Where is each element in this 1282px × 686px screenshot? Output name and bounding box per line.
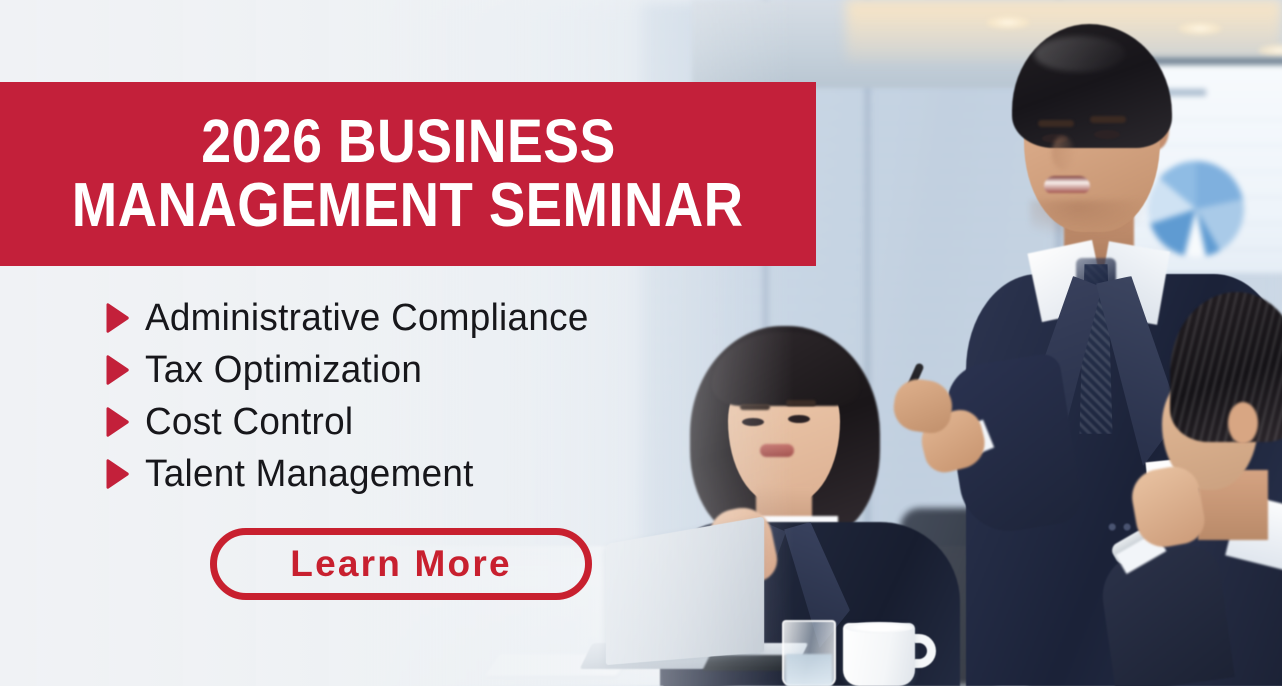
title-banner: 2026 BUSINESS MANAGEMENT SEMINAR <box>0 82 816 266</box>
feature-list: Administrative Compliance Tax Optimizati… <box>104 292 784 500</box>
banner-content: 2026 BUSINESS MANAGEMENT SEMINAR Adminis… <box>0 0 1282 686</box>
triangle-right-icon <box>104 303 130 333</box>
learn-more-button[interactable]: Learn More <box>210 528 592 600</box>
triangle-right-icon <box>104 459 130 489</box>
list-item: Talent Management <box>104 448 784 500</box>
title-line-2: MANAGEMENT SEMINAR <box>72 173 744 239</box>
list-item-label: Cost Control <box>145 401 353 444</box>
list-item-label: Talent Management <box>145 453 474 496</box>
seminar-banner: 2026 BUSINESS MANAGEMENT SEMINAR Adminis… <box>0 0 1282 686</box>
list-item: Tax Optimization <box>104 344 784 396</box>
list-item-label: Administrative Compliance <box>145 297 589 340</box>
list-item: Administrative Compliance <box>104 292 784 344</box>
learn-more-label: Learn More <box>290 543 511 585</box>
list-item-label: Tax Optimization <box>145 349 422 392</box>
triangle-right-icon <box>104 407 130 437</box>
list-item: Cost Control <box>104 396 784 448</box>
title-line-1: 2026 BUSINESS <box>201 109 615 174</box>
triangle-right-icon <box>104 355 130 385</box>
